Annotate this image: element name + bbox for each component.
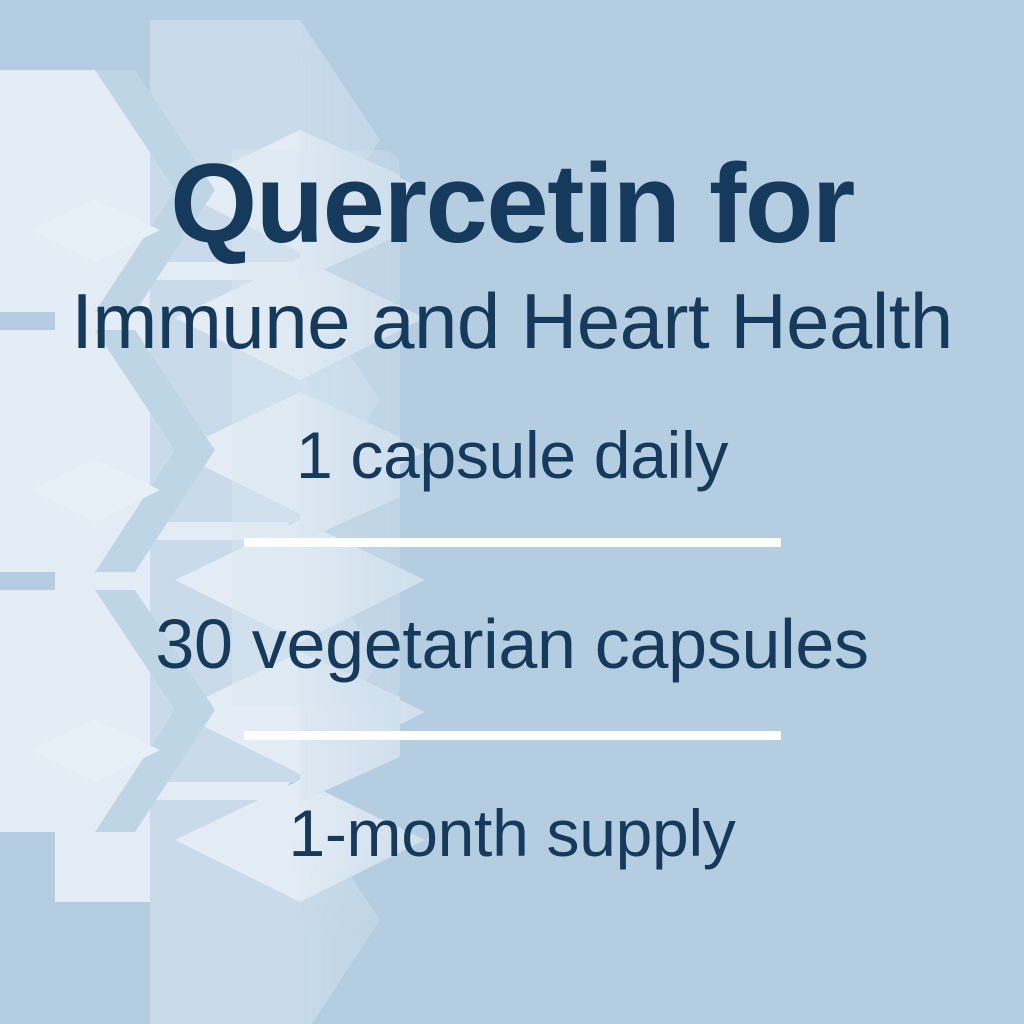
product-info-card: Quercetin for Immune and Heart Health 1 … [0, 0, 1024, 1024]
content-stack: Quercetin for Immune and Heart Health 1 … [0, 0, 1024, 1024]
fact-dosage: 1 capsule daily [296, 422, 728, 488]
divider-2 [244, 731, 781, 740]
fact-count: 30 vegetarian capsules [155, 609, 868, 679]
fact-supply: 1-month supply [288, 800, 735, 866]
page-subtitle: Immune and Heart Health [71, 282, 953, 360]
page-title: Quercetin for [170, 148, 854, 260]
divider-1 [244, 538, 781, 547]
